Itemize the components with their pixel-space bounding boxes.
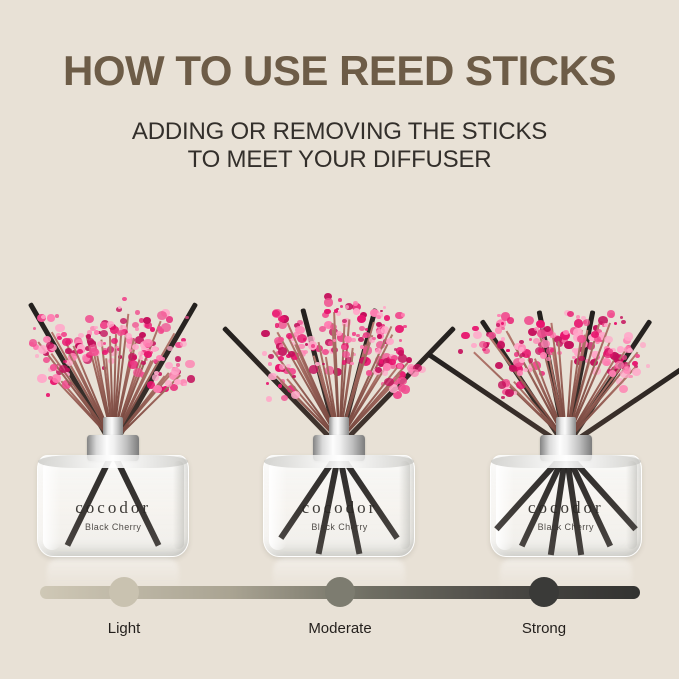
subtitle-line-2: TO MEET YOUR DIFFUSER xyxy=(188,146,492,173)
page-subtitle: ADDING OR REMOVING THE STICKS TO MEET YO… xyxy=(0,92,679,175)
flower-blossom xyxy=(135,310,140,315)
flower-blossom xyxy=(144,351,151,358)
flower-blossom xyxy=(166,316,174,323)
bottle-collar xyxy=(313,435,365,461)
bottle-glass-body: cocodorBlack Cherry xyxy=(263,455,415,557)
flower-blossom xyxy=(41,315,46,319)
flower-blossom xyxy=(353,308,360,314)
flower-blossom xyxy=(383,306,386,309)
flower-blossom xyxy=(94,330,100,335)
flower-blossom xyxy=(517,370,523,376)
diffuser-bottle-strong: cocodorBlack Cherry xyxy=(486,437,646,565)
flower-blossom xyxy=(62,338,70,346)
flower-blossom xyxy=(609,313,614,318)
flower-blossom xyxy=(397,363,404,369)
flower-blossom xyxy=(77,349,82,354)
flower-blossom xyxy=(89,348,99,357)
flower-blossom xyxy=(35,354,40,358)
flower-blossom xyxy=(395,325,404,333)
flower-blossom xyxy=(185,360,194,369)
flower-blossom xyxy=(471,343,477,348)
product-strong: cocodorBlack Cherry xyxy=(458,210,673,565)
flower-blossom xyxy=(458,349,464,354)
flower-blossom xyxy=(278,356,284,361)
flower-blossom xyxy=(497,341,506,349)
flower-blossom xyxy=(386,338,394,345)
flower-blossom xyxy=(303,350,308,354)
flower-blossom xyxy=(33,327,36,330)
flower-blossom xyxy=(604,336,612,343)
flower-blossom xyxy=(322,363,325,366)
flower-blossom xyxy=(401,313,405,317)
flower-blossom xyxy=(624,332,634,341)
infographic-page: HOW TO USE REED STICKS ADDING OR REMOVIN… xyxy=(0,0,679,679)
flower-blossom xyxy=(578,356,584,362)
flower-blossom xyxy=(324,298,334,307)
flower-blossom xyxy=(640,342,647,348)
flower-blossom xyxy=(410,369,419,377)
flower-blossom xyxy=(125,333,132,339)
flower-blossom xyxy=(622,355,627,360)
flower-blossom xyxy=(635,354,640,358)
flower-blossom xyxy=(37,374,46,382)
flower-blossom xyxy=(567,311,574,317)
flower-blossom xyxy=(340,305,343,308)
flower-blossom xyxy=(498,381,506,388)
flower-blossom xyxy=(278,384,282,388)
product-moderate: cocodorBlack Cherry xyxy=(232,210,447,565)
flower-blossom xyxy=(279,364,285,369)
flower-blossom xyxy=(366,370,372,376)
flower-blossom xyxy=(357,315,366,323)
flower-blossom xyxy=(619,385,628,393)
flower-blossom xyxy=(183,383,187,386)
flower-blossom xyxy=(262,351,267,355)
flower-blossom xyxy=(185,316,189,319)
flower-blossom xyxy=(353,301,358,306)
subtitle-line-1: ADDING OR REMOVING THE STICKS xyxy=(132,118,547,145)
slider-knob-light[interactable] xyxy=(109,577,139,607)
slider-label-moderate: Moderate xyxy=(308,620,371,637)
page-title: HOW TO USE REED STICKS xyxy=(0,0,679,92)
flower-blossom xyxy=(139,332,146,338)
flower-blossom xyxy=(275,323,280,327)
flower-blossom xyxy=(319,326,326,332)
flower-blossom xyxy=(614,322,617,325)
slider-knob-strong[interactable] xyxy=(529,577,559,607)
product-row: cocodorBlack CherrycocodorBlack Cherryco… xyxy=(0,210,679,565)
flower-blossom xyxy=(292,375,296,379)
flower-blossom xyxy=(103,342,106,345)
flower-blossom xyxy=(338,298,342,302)
flower-blossom xyxy=(143,317,151,324)
flower-blossom xyxy=(507,317,514,323)
scent-label: Black Cherry xyxy=(491,522,641,532)
flower-blossom xyxy=(541,340,550,348)
flower-blossom xyxy=(377,334,382,339)
flower-blossom xyxy=(384,378,394,387)
diffuser-bottle-light: cocodorBlack Cherry xyxy=(33,437,193,565)
flower-blossom xyxy=(65,368,69,372)
header: HOW TO USE REED STICKS ADDING OR REMOVIN… xyxy=(0,0,679,175)
bottle-glass-body: cocodorBlack Cherry xyxy=(37,455,189,557)
dried-flowers xyxy=(458,266,673,441)
flower-blossom xyxy=(473,331,483,340)
flower-blossom xyxy=(333,339,336,342)
flower-blossom xyxy=(488,332,495,339)
flower-blossom xyxy=(577,335,586,343)
flower-blossom xyxy=(495,362,503,369)
flower-blossom xyxy=(384,315,390,320)
brand-label: cocodor xyxy=(38,498,188,518)
brand-label: cocodor xyxy=(491,498,641,518)
flower-blossom xyxy=(187,375,195,382)
flower-blossom xyxy=(336,331,341,336)
flower-blossom xyxy=(342,319,347,323)
flower-blossom xyxy=(576,315,580,319)
flower-blossom xyxy=(141,361,146,365)
slider-knob-moderate[interactable] xyxy=(325,577,355,607)
flower-blossom xyxy=(94,326,98,329)
flower-blossom xyxy=(281,395,288,401)
flower-blossom xyxy=(523,368,528,373)
dried-flowers xyxy=(6,266,221,441)
flower-blossom xyxy=(87,338,95,345)
flower-blossom xyxy=(261,330,270,338)
slider-labels: LightModerateStrong xyxy=(0,620,679,646)
flower-blossom xyxy=(505,389,514,397)
flower-blossom xyxy=(356,334,359,337)
flower-blossom xyxy=(620,316,623,319)
flower-blossom xyxy=(175,356,181,362)
flower-blossom xyxy=(519,347,524,351)
flower-blossom xyxy=(334,309,339,313)
flower-blossom xyxy=(138,351,144,356)
flower-blossom xyxy=(132,344,139,350)
flower-blossom xyxy=(375,348,382,354)
flower-blossom xyxy=(324,309,330,315)
bottle-collar xyxy=(87,435,139,461)
flower-blossom xyxy=(509,365,515,370)
flower-blossom xyxy=(46,393,51,397)
flower-blossom xyxy=(78,333,84,339)
flower-blossom xyxy=(315,362,319,366)
flower-blossom xyxy=(65,348,71,354)
flower-blossom xyxy=(632,368,641,376)
flower-blossom xyxy=(520,353,524,357)
flower-blossom xyxy=(180,341,187,347)
flower-blossom xyxy=(529,368,533,371)
flower-blossom xyxy=(394,348,397,351)
flower-blossom xyxy=(52,374,61,382)
flower-blossom xyxy=(47,314,56,322)
flower-blossom xyxy=(66,360,72,366)
flower-blossom xyxy=(143,339,152,347)
flower-blossom xyxy=(372,337,376,340)
flower-blossom xyxy=(43,357,50,364)
flower-blossom xyxy=(111,338,118,344)
flower-blossom xyxy=(544,326,551,333)
scent-label: Black Cherry xyxy=(264,522,414,532)
slider-label-strong: Strong xyxy=(522,620,566,637)
flower-blossom xyxy=(135,327,139,331)
flower-blossom xyxy=(399,339,403,342)
flower-blossom xyxy=(120,318,127,324)
flower-blossom xyxy=(158,328,164,333)
flower-blossom xyxy=(151,346,158,353)
flower-blossom xyxy=(646,364,651,368)
scent-label: Black Cherry xyxy=(38,522,188,532)
flower-blossom xyxy=(350,362,353,365)
flower-blossom xyxy=(152,374,159,380)
flower-blossom xyxy=(50,364,57,371)
flower-blossom xyxy=(176,363,180,366)
flower-blossom xyxy=(472,326,478,332)
flower-blossom xyxy=(266,396,272,401)
flower-blossom xyxy=(295,326,304,334)
diffuser-bottle-moderate: cocodorBlack Cherry xyxy=(259,437,419,565)
flower-blossom xyxy=(621,320,625,324)
flower-blossom xyxy=(609,370,616,376)
flower-blossom xyxy=(529,338,532,341)
flower-blossom xyxy=(85,315,94,323)
flower-blossom xyxy=(365,328,368,331)
flower-blossom xyxy=(118,306,121,309)
flower-blossom xyxy=(627,348,633,353)
flower-blossom xyxy=(55,324,64,332)
flower-blossom xyxy=(55,314,59,318)
intensity-slider[interactable] xyxy=(40,582,640,602)
flower-blossom xyxy=(122,297,127,302)
flower-blossom xyxy=(533,338,540,344)
flower-blossom xyxy=(514,352,520,357)
flower-blossom xyxy=(540,352,547,358)
flower-blossom xyxy=(524,316,534,325)
flower-blossom xyxy=(167,346,173,351)
flower-blossom xyxy=(272,310,279,317)
flower-blossom xyxy=(461,332,470,340)
flower-blossom xyxy=(268,362,272,366)
flower-blossom xyxy=(501,322,505,325)
flower-blossom xyxy=(501,396,505,400)
bottle-glass-body: cocodorBlack Cherry xyxy=(490,455,642,557)
flower-blossom xyxy=(406,357,412,363)
flower-blossom xyxy=(117,330,124,336)
flower-blossom xyxy=(311,344,315,348)
flower-blossom xyxy=(266,382,269,385)
dried-flowers xyxy=(232,266,447,441)
bottle-collar xyxy=(540,435,592,461)
flower-blossom xyxy=(351,338,355,342)
flower-blossom xyxy=(341,345,347,350)
flower-blossom xyxy=(100,330,108,337)
flower-blossom xyxy=(563,330,569,335)
slider-label-light: Light xyxy=(108,620,141,637)
brand-label: cocodor xyxy=(264,498,414,518)
product-light: cocodorBlack Cherry xyxy=(6,210,221,565)
flower-blossom xyxy=(608,349,613,353)
flower-blossom xyxy=(604,323,608,327)
flower-blossom xyxy=(268,354,273,359)
flower-blossom xyxy=(61,332,66,337)
flower-blossom xyxy=(529,358,534,362)
flower-blossom xyxy=(506,349,509,352)
